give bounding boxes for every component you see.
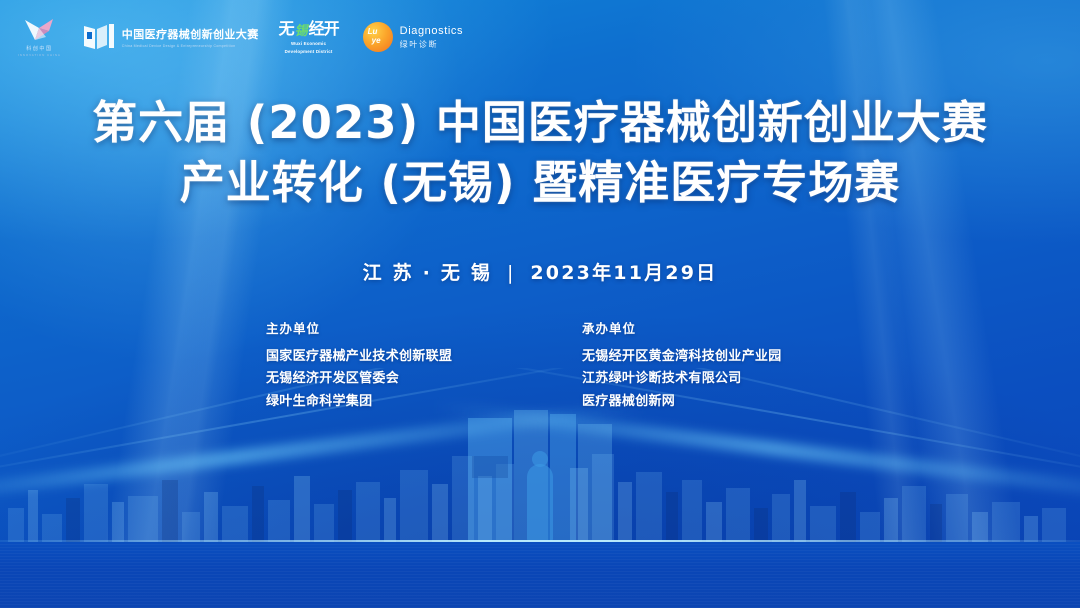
walking-figure-silhouette (527, 464, 553, 542)
organizer-heading-host: 主办单位 (266, 318, 498, 337)
logo-luye-diagnostics: Lu ye Diagnostics 绿叶诊断 (363, 14, 463, 60)
logo-wuxi-en-line2: Development District (285, 49, 333, 55)
wuxi-cn-mid: 锡 (295, 20, 308, 39)
logo-wuxi-economic-development-district: 无锡经开 Wuxi Economic Development District (279, 14, 339, 60)
water-reflection (0, 542, 1080, 608)
logo-cmdc-cn: 中国医疗器械创新创业大赛 (122, 26, 259, 42)
figure-head (532, 451, 548, 467)
sponsor-logo-bar: 科创中国 INNOVATION CHINA 中国医疗器械创新创业大赛 China… (14, 14, 1080, 60)
logo-luye-en: Diagnostics (400, 25, 463, 37)
organizer-entry: 无锡经开区黄金湾科技创业产业园 (582, 346, 814, 368)
logo-cmdc-en: China Medical Device Design & Entreprene… (122, 44, 259, 48)
logo-luye-cn: 绿叶诊断 (400, 39, 463, 50)
open-gate-graphic (468, 406, 612, 542)
open-book-gate-icon (83, 23, 115, 51)
logo-wuxi-en-line1: Wuxi Economic (291, 41, 326, 47)
event-date: 2023年11月29日 (530, 262, 717, 284)
event-location: 江 苏 · 无 锡 (363, 262, 492, 284)
city-scene-graphic (0, 368, 1080, 608)
luye-badge-top: Lu (368, 27, 378, 36)
title-line-1: 第六届 (2023) 中国医疗器械创新创业大赛 (0, 96, 1080, 149)
luye-badge-bottom: ye (372, 36, 381, 45)
event-poster: 科创中国 INNOVATION CHINA 中国医疗器械创新创业大赛 China… (0, 0, 1080, 608)
wuxi-cn-left: 无 (279, 15, 294, 39)
butterfly-mark-icon (22, 17, 56, 43)
title-block: 第六届 (2023) 中国医疗器械创新创业大赛 产业转化 (无锡) 暨精准医疗专… (0, 96, 1080, 209)
logo-innovation-china-cn: 科创中国 (26, 45, 52, 52)
location-date-bar: 江 苏 · 无 锡 | 2023年11月29日 (0, 258, 1080, 285)
title-line-2: 产业转化 (无锡) 暨精准医疗专场赛 (0, 156, 1080, 209)
wuxi-calligraphy-icon: 无锡经开 (279, 19, 339, 39)
wuxi-cn-right: 经开 (309, 15, 339, 39)
logo-innovation-china-en: INNOVATION CHINA (18, 53, 61, 57)
logo-china-medical-device-competition: 中国医疗器械创新创业大赛 China Medical Device Design… (83, 14, 259, 60)
separator-pipe: | (507, 262, 516, 284)
logo-innovation-china: 科创中国 INNOVATION CHINA (18, 14, 61, 60)
organizer-heading-coorganizer: 承办单位 (582, 318, 814, 337)
organizer-entry: 国家医疗器械产业技术创新联盟 (266, 346, 498, 368)
luye-circle-icon: Lu ye (363, 22, 393, 52)
